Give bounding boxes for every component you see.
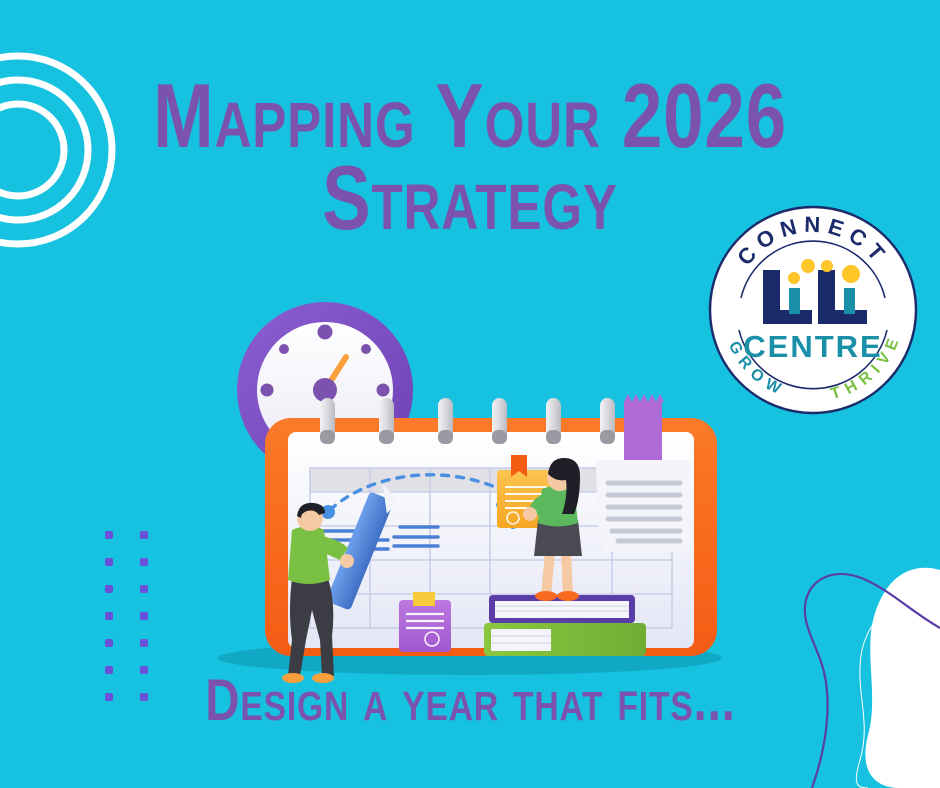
logo-centre-text: CENTRE (743, 329, 882, 364)
poster-canvas: CONNECT CENTRE GROW THRIVE Mapping Your … (0, 0, 940, 788)
logo-badge[interactable]: CONNECT CENTRE GROW THRIVE (0, 0, 940, 788)
logo-badge-circle (710, 207, 916, 413)
